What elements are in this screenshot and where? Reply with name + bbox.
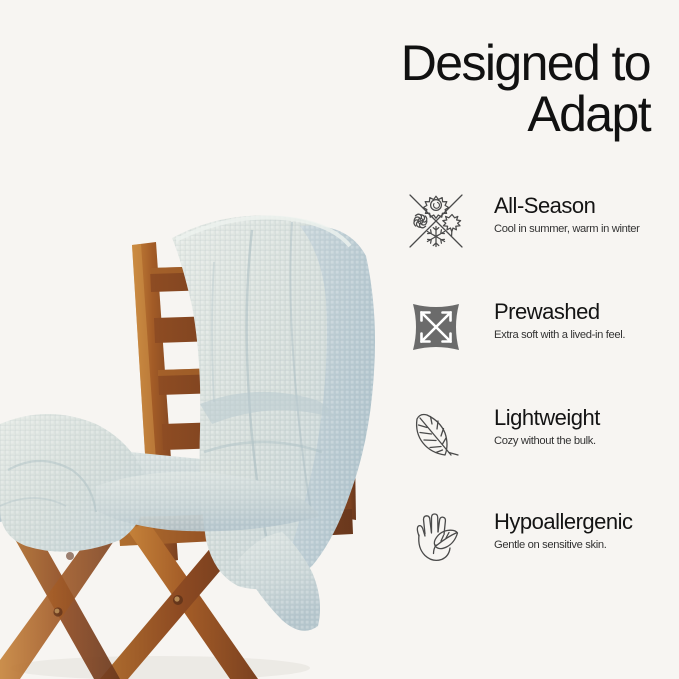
feature-title: Prewashed	[494, 299, 679, 325]
pillow-arrows-icon	[405, 296, 467, 358]
feature-list: All-Season Cool in summer, warm in winte…	[402, 190, 679, 600]
headline-line-2: Adapt	[395, 89, 650, 140]
feature-text: Hypoallergenic Gentle on sensitive skin.	[494, 509, 679, 553]
feature-subtitle: Extra soft with a lived-in feel.	[494, 328, 679, 343]
feature-title: Lightweight	[494, 405, 679, 431]
feature-panel: Designed to Adapt	[390, 0, 679, 679]
feature-item-hypoallergenic: Hypoallergenic Gentle on sensitive skin.	[402, 500, 679, 600]
page-title: Designed to Adapt	[395, 38, 650, 140]
product-photo	[0, 0, 390, 679]
feather-icon	[405, 403, 467, 465]
feature-text: Prewashed Extra soft with a lived-in fee…	[494, 299, 679, 343]
feature-subtitle: Cool in summer, warm in winter	[494, 222, 679, 237]
hand-leaf-icon	[405, 504, 467, 566]
feature-item-lightweight: Lightweight Cozy without the bulk.	[402, 399, 679, 500]
four-seasons-icon	[405, 190, 467, 252]
product-feature-graphic: Designed to Adapt	[0, 0, 679, 679]
feature-subtitle: Cozy without the bulk.	[494, 434, 679, 449]
feature-title: All-Season	[494, 193, 679, 219]
feature-text: Lightweight Cozy without the bulk.	[494, 405, 679, 449]
feature-title: Hypoallergenic	[494, 509, 679, 535]
feature-subtitle: Gentle on sensitive skin.	[494, 538, 679, 553]
headline-line-1: Designed to	[401, 35, 650, 91]
feature-item-prewashed: Prewashed Extra soft with a lived-in fee…	[402, 294, 679, 399]
feature-text: All-Season Cool in summer, warm in winte…	[494, 193, 679, 237]
feature-item-all-season: All-Season Cool in summer, warm in winte…	[402, 190, 679, 294]
